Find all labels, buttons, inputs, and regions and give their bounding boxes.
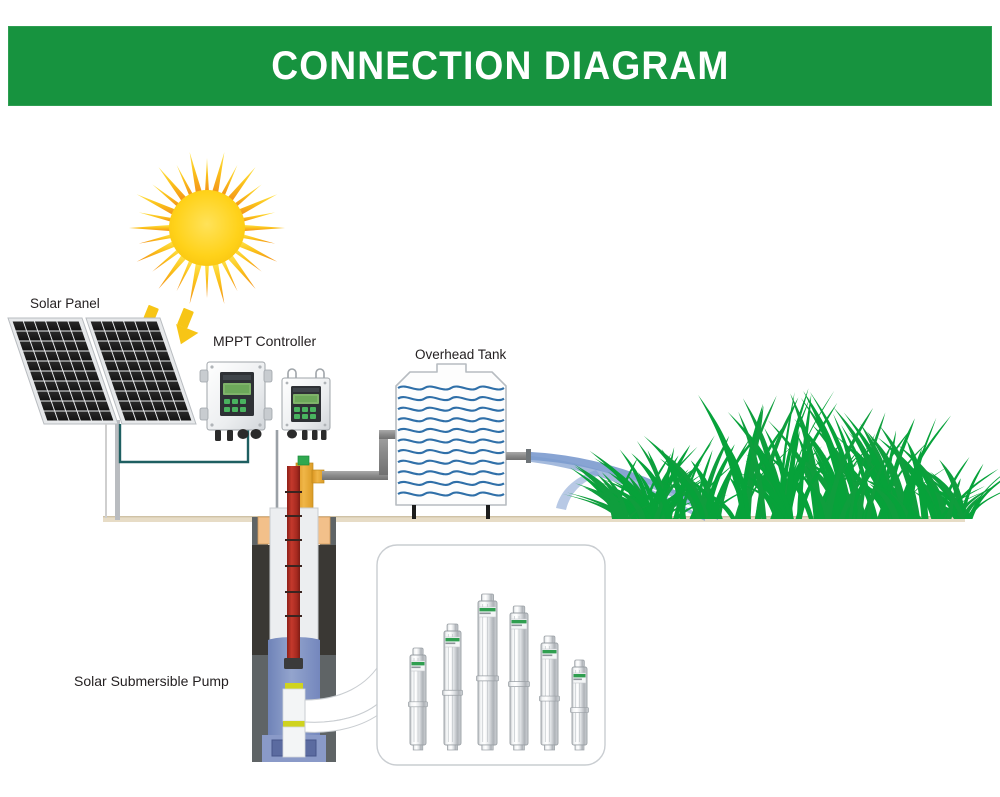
pump-lineup-item[interactable]: [409, 648, 428, 750]
tank-leg-1: [412, 505, 416, 519]
pump-lineup-panel: [377, 545, 605, 765]
solar-array[interactable]: [8, 318, 196, 520]
sun-ray: [242, 212, 276, 222]
grass-field: [563, 388, 1000, 519]
delivery-pipe: [322, 430, 403, 480]
label-solar-submersible-pump: Solar Submersible Pump: [74, 673, 229, 689]
sun-ray: [190, 262, 202, 304]
riser-pipe: [287, 466, 300, 662]
pump-lineup-item[interactable]: [540, 636, 560, 750]
valve-cap[interactable]: [298, 456, 309, 465]
wiring: [106, 424, 277, 520]
sun-ray: [129, 225, 171, 231]
sun-ray: [205, 264, 209, 298]
sun-ray: [139, 234, 173, 244]
submersible-pump-body: [283, 683, 305, 757]
wellhead: [296, 456, 324, 515]
label-solar-panel: Solar Panel: [30, 296, 100, 311]
sun-ray: [212, 152, 224, 194]
riser-coupling: [284, 658, 303, 669]
connection-diagram-page: CONNECTION DIAGRAM: [0, 0, 1000, 797]
sun-ray: [212, 262, 224, 304]
sun-ray: [190, 152, 202, 194]
overhead-tank: [396, 364, 531, 519]
sun-ray: [227, 167, 256, 202]
pump-lineup-item[interactable]: [571, 660, 589, 750]
sun-ray: [158, 167, 187, 202]
sun-ray: [242, 234, 276, 244]
sun-ray: [139, 212, 173, 222]
tank-outlet-pipe: [506, 452, 528, 460]
label-mppt-controller: MPPT Controller: [213, 333, 316, 349]
sun-ray: [243, 225, 285, 231]
label-overhead-tank: Overhead Tank: [415, 347, 506, 362]
grass-blade: [968, 468, 1000, 519]
tank-leg-2: [486, 505, 490, 519]
sun-icon: [129, 152, 285, 304]
sun-core: [169, 190, 245, 266]
sun-ray: [227, 254, 256, 289]
sun-ray: [205, 158, 209, 192]
pump-lineup-item[interactable]: [443, 624, 463, 750]
mppt-controller-small[interactable]: [282, 369, 330, 440]
sun-ray: [158, 254, 187, 289]
sunlight-arrow-2: [170, 308, 199, 349]
pump-lineup-item[interactable]: [477, 594, 499, 750]
pump-lineup-item[interactable]: [509, 606, 530, 750]
controller-cable-glands: [215, 429, 262, 441]
mppt-controller-large[interactable]: [200, 362, 272, 441]
